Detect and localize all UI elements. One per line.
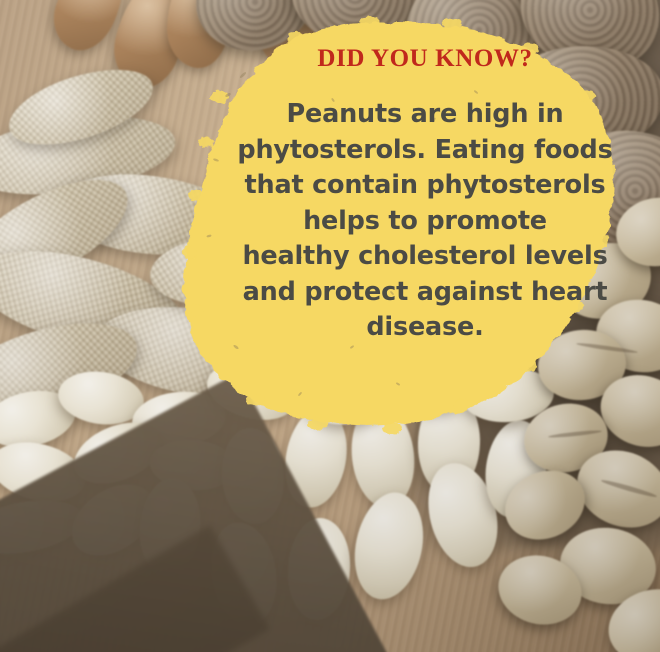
body-line: phytosterols. Eating foods [228,133,622,169]
page-title: DID YOU KNOW? [228,46,622,71]
body-line: that contain phytosterols [228,168,622,204]
infographic-canvas: DID YOU KNOW? Peanuts are high in phytos… [0,0,660,652]
body-copy: Peanuts are high in phytosterols. Eating… [228,97,622,346]
body-line: and protect against heart [228,275,622,311]
callout-text-block: DID YOU KNOW? Peanuts are high in phytos… [228,46,622,346]
body-line: healthy cholesterol levels [228,239,622,275]
body-line: disease. [228,310,622,346]
body-line: Peanuts are high in [228,97,622,133]
body-line: helps to promote [228,204,622,240]
